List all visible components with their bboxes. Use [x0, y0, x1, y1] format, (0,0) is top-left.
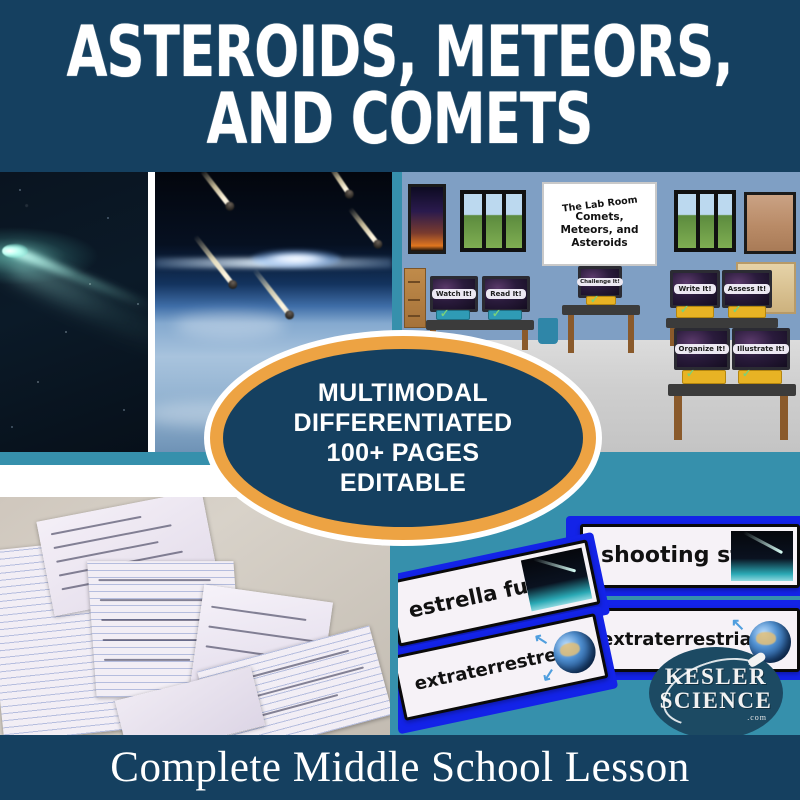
- cabinet: [404, 268, 426, 328]
- kesler-science-logo: KESLER SCIENCE .com: [649, 647, 783, 739]
- mars-rover-poster: [744, 192, 796, 254]
- badge-fill: MULTIMODAL DIFFERENTIATED 100+ PAGES EDI…: [223, 349, 583, 527]
- badge-ring: MULTIMODAL DIFFERENTIATED 100+ PAGES EDI…: [210, 336, 596, 540]
- station-label: Organize It!: [675, 344, 730, 354]
- comet-thumbnail: [731, 531, 793, 581]
- cloud: [175, 312, 285, 338]
- vocab-card-shooting-star: shooting star: [580, 524, 800, 588]
- footer-banner: Complete Middle School Lesson: [0, 735, 800, 800]
- station-monitor-assess-it: Assess It!: [722, 270, 772, 308]
- trash-bin: [538, 318, 558, 344]
- supply-tray: ✓: [488, 310, 522, 320]
- table-leg: [568, 315, 574, 353]
- whiteboard: The Lab Room Comets, Meteors, and Astero…: [542, 182, 657, 266]
- station-monitor-challenge-it: Challenge It!: [578, 266, 622, 298]
- badge-line-differentiated: DIFFERENTIATED: [293, 409, 512, 437]
- table-leg: [780, 396, 788, 440]
- meteor-streak: [348, 207, 380, 246]
- table-leg: [522, 330, 528, 350]
- lab-table: [426, 320, 534, 330]
- whiteboard-line-2: Meteors, and: [560, 224, 638, 236]
- galaxy-poster: [408, 184, 446, 254]
- badge-line-editable: EDITABLE: [340, 469, 466, 497]
- lab-table: [666, 318, 778, 328]
- page-title: ASTEROIDS, METEORS, AND COMETS: [67, 19, 733, 153]
- supply-tray: ✓: [728, 306, 766, 318]
- supply-tray: ✓: [682, 370, 726, 384]
- feature-badge: MULTIMODAL DIFFERENTIATED 100+ PAGES EDI…: [204, 330, 602, 546]
- header-banner: ASTEROIDS, METEORS, AND COMETS: [0, 0, 800, 172]
- meteor-streak: [252, 268, 292, 317]
- logo-domain-suffix: .com: [747, 713, 767, 722]
- panel-divider: [148, 172, 155, 452]
- station-label: Read It!: [486, 289, 525, 299]
- station-label: Write It!: [674, 284, 715, 294]
- lab-table: [562, 305, 640, 315]
- footer-tagline: Complete Middle School Lesson: [110, 743, 689, 792]
- whiteboard-line-1: Comets,: [575, 211, 623, 223]
- station-monitor-read-it: Read It!: [482, 276, 530, 312]
- comet-thumbnail: [521, 548, 592, 612]
- station-label: Assess It!: [724, 284, 770, 294]
- table-leg: [674, 396, 682, 440]
- station-monitor-organize-it: Organize It!: [674, 328, 730, 370]
- table-leg: [628, 315, 634, 353]
- badge-line-pages: 100+ PAGES: [327, 439, 480, 467]
- station-monitor-illustrate-it: Illustrate It!: [732, 328, 790, 370]
- sun-glow: [251, 250, 341, 268]
- supply-tray: ✓: [738, 370, 782, 384]
- station-label: Watch It!: [432, 289, 476, 299]
- supply-tray: ✓: [676, 306, 714, 318]
- earth-globe-icon: [550, 627, 600, 677]
- lab-table: [668, 384, 796, 396]
- station-monitor-watch-it: Watch It!: [430, 276, 478, 312]
- window: [674, 190, 736, 252]
- station-monitor-write-it: Write It!: [670, 270, 720, 308]
- comet-head: [2, 244, 28, 258]
- comet-photo: [0, 172, 148, 452]
- window: [460, 190, 526, 252]
- badge-line-multimodal: MULTIMODAL: [318, 379, 488, 407]
- supply-tray: ✓: [586, 296, 616, 305]
- whiteboard-line-3: Asteroids: [571, 237, 627, 249]
- station-label: Illustrate It!: [733, 344, 789, 354]
- station-label: Challenge It!: [577, 278, 623, 286]
- meteor-streak: [200, 172, 232, 208]
- meteor-streak: [328, 172, 351, 196]
- supply-tray: ✓: [436, 310, 470, 320]
- vocab-term: extraterrestre: [413, 646, 558, 695]
- product-cover: ASTEROIDS, METEORS, AND COMETS: [0, 0, 800, 800]
